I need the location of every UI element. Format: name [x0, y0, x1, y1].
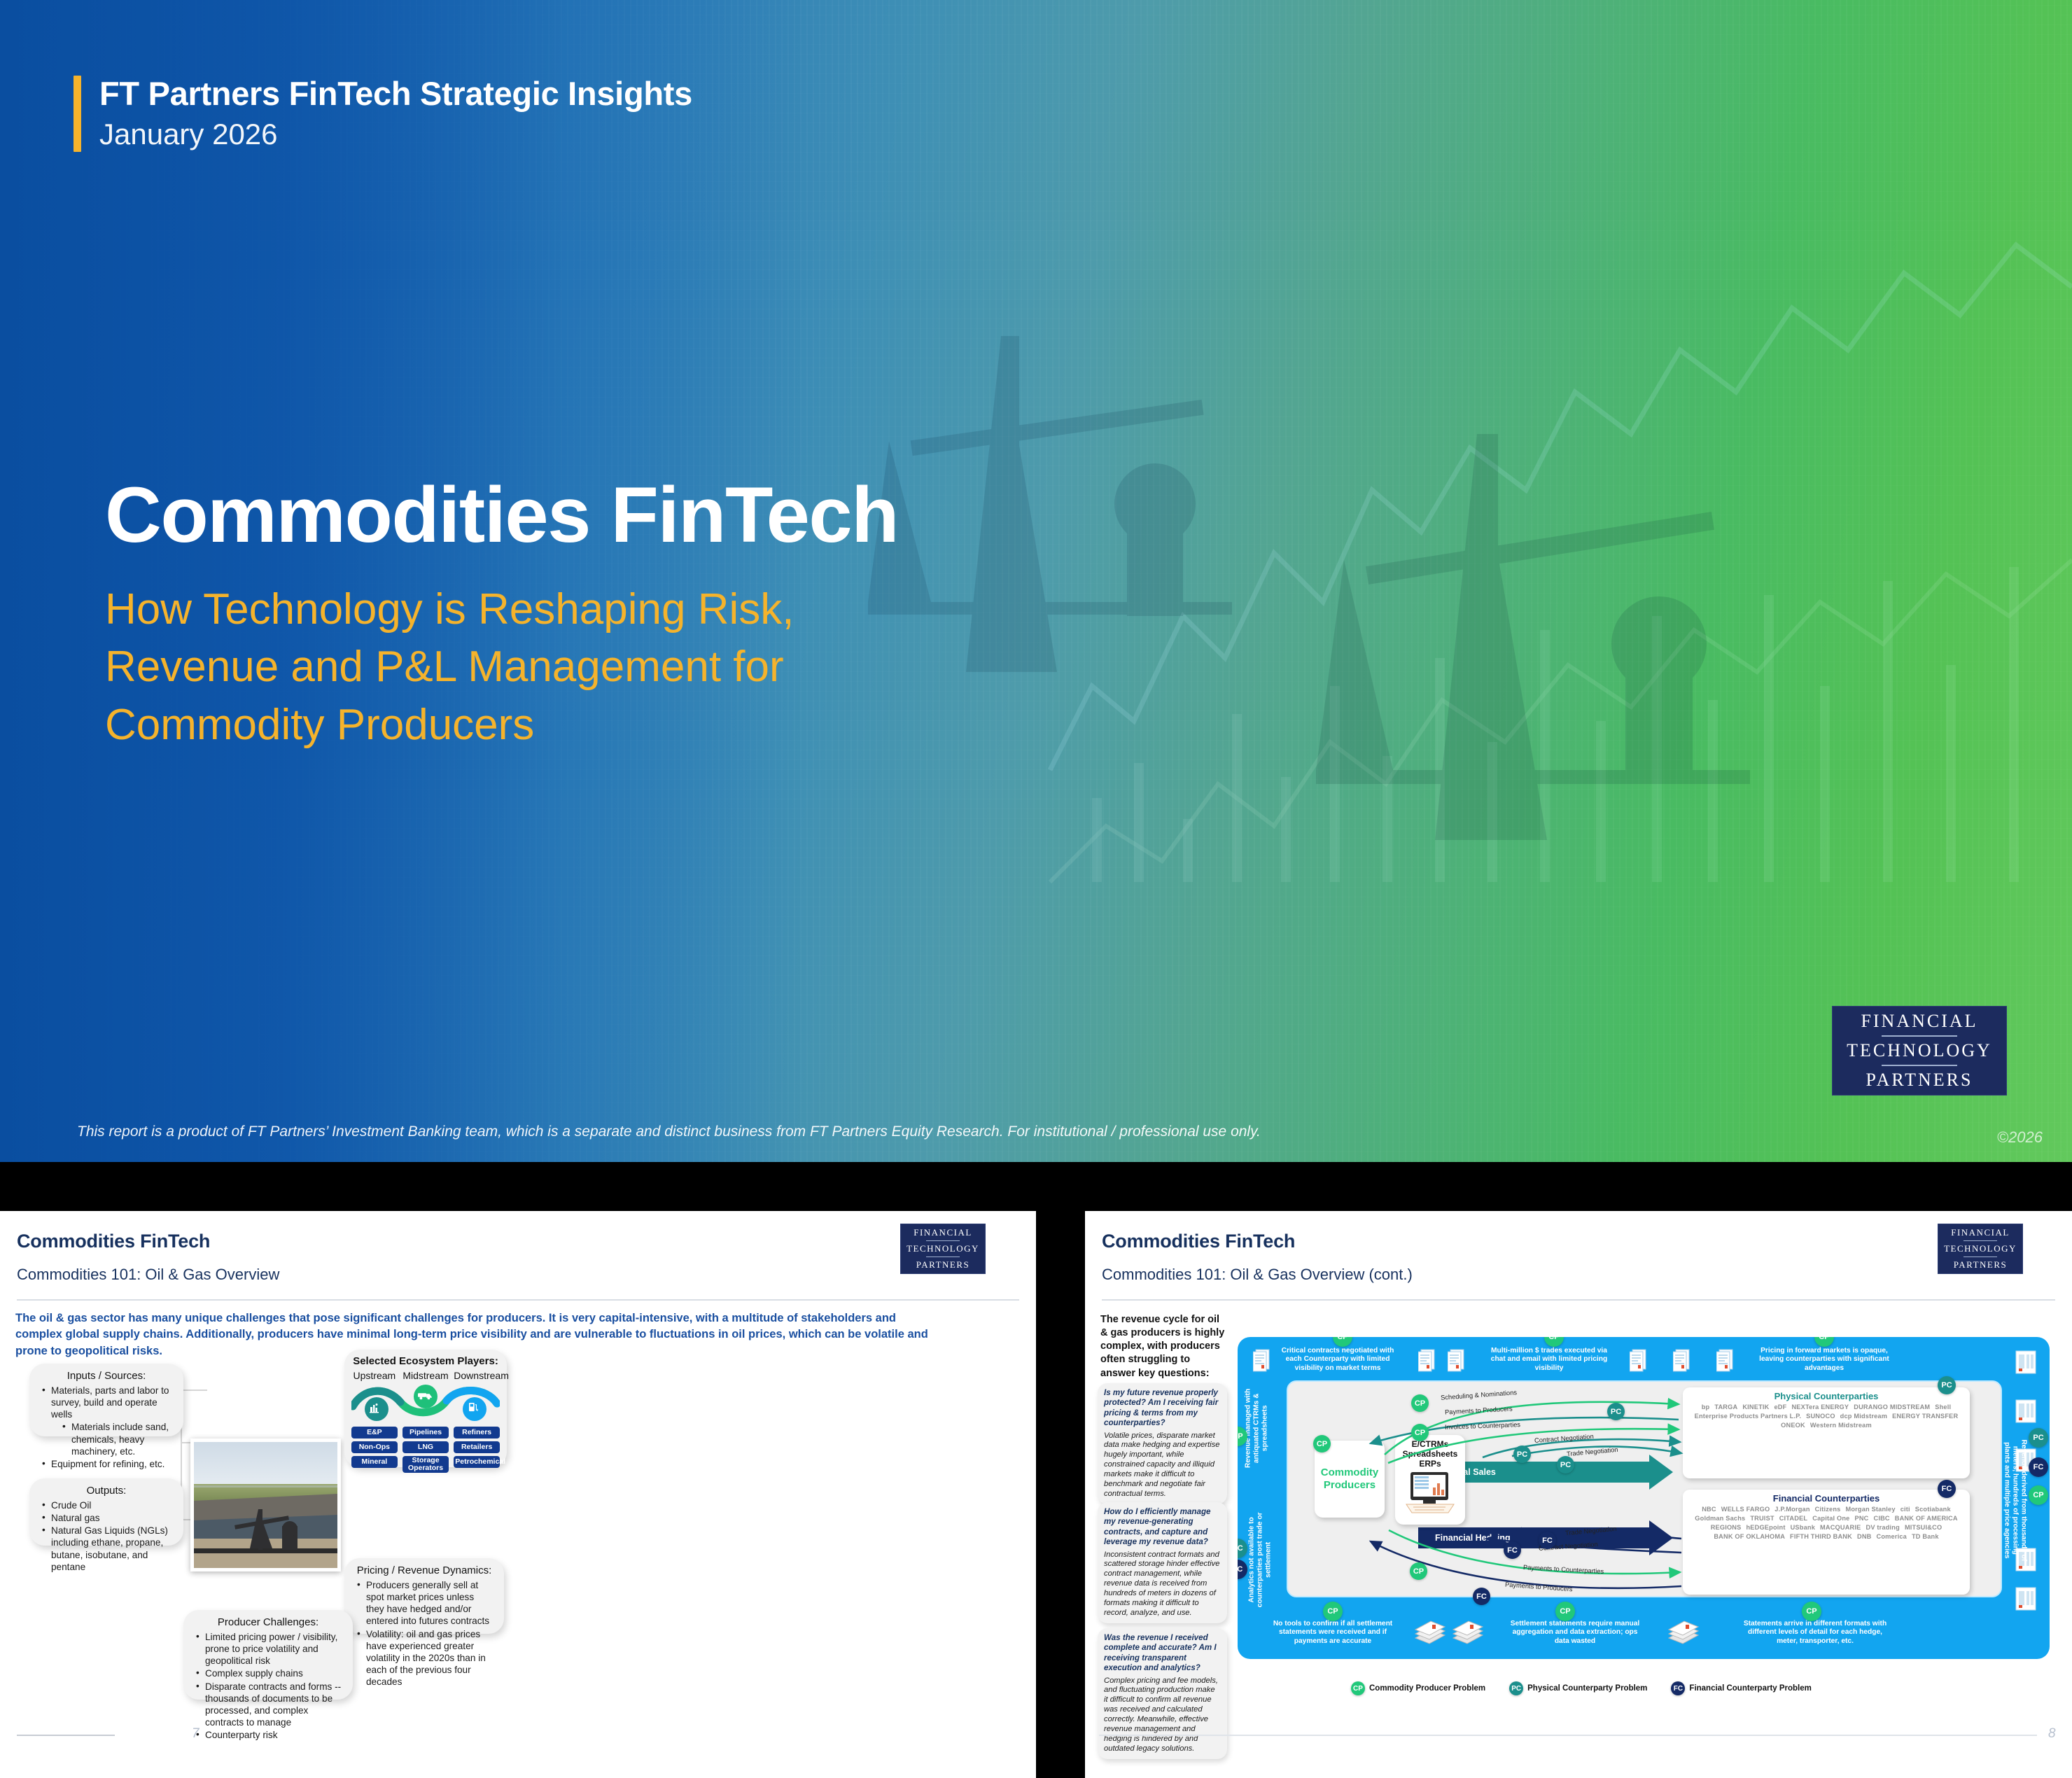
card-pricing-heading-colon: :	[489, 1564, 491, 1576]
card-inputs-sources: Inputs / Sources: Materials, parts and l…	[29, 1364, 183, 1436]
card-outputs-heading-colon: :	[123, 1485, 126, 1497]
card-pricing-heading-text: Pricing / Revenue Dynamics	[357, 1564, 489, 1576]
badge-pc-flow-3: PC	[1557, 1456, 1574, 1473]
list-item: Natural Gas Liquids (NGLs) including eth…	[39, 1525, 174, 1573]
badge-cp-bottom-1: CP	[1323, 1602, 1343, 1621]
legend-item-fc: FC Financial Counterparty Problem	[1671, 1681, 1811, 1695]
question-text: Is my future revenue properly protected?…	[1104, 1388, 1221, 1429]
list-item: Natural gas	[39, 1512, 174, 1524]
badge-fc-flow-3: FC	[1473, 1588, 1490, 1605]
pill: Non-Ops	[351, 1441, 398, 1453]
cover-subhead-line-3: Commodity Producers	[105, 696, 898, 754]
diagram-legend: CP Commodity Producer Problem PC Physica…	[1351, 1681, 1812, 1695]
card-challenges-heading-text: Producer Challenges	[218, 1616, 316, 1628]
slide-left-page-number: 7	[192, 1726, 199, 1742]
slide-left-title: Commodities FinTech	[17, 1231, 210, 1252]
ecosystem-heading-colon: :	[495, 1355, 498, 1367]
pill: Retailers	[454, 1441, 500, 1453]
ecosystem-columns: Upstream Midstream Downstream	[351, 1370, 500, 1381]
badge-cp-right: CP	[2029, 1485, 2048, 1505]
ecosystem-heading: Selected Ecosystem Players:	[351, 1355, 500, 1367]
ecosystem-pill-columns: E&P Non-Ops Mineral Pipelines LNG Storag…	[351, 1424, 500, 1476]
list-item: Equipment for refining, etc.	[39, 1458, 174, 1470]
badge-cp-legend: CP	[1351, 1681, 1365, 1695]
card-producer-challenges: Producer Challenges: Limited pricing pow…	[183, 1610, 353, 1700]
card-pricing-heading: Pricing / Revenue Dynamics:	[354, 1564, 494, 1576]
badge-pc-legend: PC	[1509, 1681, 1523, 1695]
card-inputs-list: Materials, parts and labor to survey, bu…	[39, 1385, 174, 1470]
question-card-2: How do I efficiently manage my revenue-g…	[1098, 1502, 1227, 1623]
ecosystem-column-label: Downstream	[454, 1370, 500, 1381]
badge-cp-flow-2: CP	[1411, 1424, 1429, 1441]
ftp-logo-line-financial: FINANCIAL	[913, 1227, 972, 1238]
slide-right-footer-rule	[1099, 1735, 2037, 1736]
slide-right-page-number: 8	[2048, 1726, 2056, 1742]
ecosystem-column-label: Midstream	[402, 1370, 449, 1381]
legend-label: Physical Counterparty Problem	[1527, 1684, 1647, 1693]
badge-fc-legend: FC	[1671, 1681, 1685, 1695]
ftp-logo-rule-2	[926, 1256, 960, 1257]
slide-right-divider	[1102, 1299, 2055, 1301]
cover-copyright: ©2026	[1997, 1128, 2043, 1147]
diagram-bottom-caption-2: Settlement statements require manual agg…	[1506, 1620, 1644, 1646]
question-text: Was the revenue I received complete and …	[1104, 1633, 1221, 1674]
list-item: Complex supply chains	[193, 1667, 343, 1679]
list-item: Producers generally sell at spot market …	[354, 1579, 494, 1627]
badge-pc-right: PC	[2029, 1428, 2048, 1448]
badge-cp-flow-3: CP	[1410, 1562, 1427, 1580]
cover-subhead-line-2: Revenue and P&L Management for	[105, 638, 898, 696]
cover-headline-block: Commodities FinTech How Technology is Re…	[105, 476, 898, 754]
badge-pc-flow-2: PC	[1513, 1445, 1531, 1463]
ecosystem-pills-downstream: Refiners Retailers Petrochemical	[454, 1427, 500, 1476]
card-challenges-heading: Producer Challenges:	[193, 1616, 343, 1628]
ecosystem-column-upstream: Upstream	[351, 1370, 398, 1381]
card-outputs-heading-text: Outputs	[87, 1485, 124, 1497]
card-outputs-list: Crude Oil Natural gas Natural Gas Liquid…	[39, 1499, 174, 1573]
report-series-title: FT Partners FinTech Strategic Insights	[99, 76, 692, 113]
ecosystem-column-label: Upstream	[351, 1370, 398, 1381]
answer-text: Inconsistent contract formats and scatte…	[1104, 1550, 1221, 1618]
pill: Pipelines	[402, 1427, 449, 1438]
badge-pc-physbox: PC	[1938, 1376, 1956, 1394]
list-item: Materials include sand, chemicals, heavy…	[39, 1421, 174, 1457]
answer-text: Complex pricing and fee models, and fluc…	[1104, 1676, 1221, 1754]
legend-label: Commodity Producer Problem	[1369, 1684, 1485, 1693]
connector-line	[181, 1389, 207, 1391]
ftp-logo-rule-1	[1882, 1035, 1957, 1037]
list-item: Volatility: oil and gas prices have expe…	[354, 1628, 494, 1688]
ftp-logo-line-technology: TECHNOLOGY	[906, 1243, 979, 1254]
ftp-logo-rule-2	[1963, 1256, 1997, 1257]
cover-subhead: How Technology is Reshaping Risk, Revenu…	[105, 581, 898, 754]
card-pricing-list: Producers generally sell at spot market …	[354, 1579, 494, 1688]
pill: E&P	[351, 1427, 398, 1438]
slide-left-subtitle: Commodities 101: Oil & Gas Overview	[17, 1266, 279, 1284]
question-text: How do I efficiently manage my revenue-g…	[1104, 1507, 1221, 1548]
oil-well-photo	[190, 1438, 341, 1571]
pill: Storage Operators	[402, 1456, 449, 1473]
legend-label: Financial Counterparty Problem	[1689, 1684, 1811, 1693]
ftp-logo-line-technology: TECHNOLOGY	[1944, 1243, 2017, 1254]
card-outputs: Outputs: Crude Oil Natural gas Natural G…	[29, 1478, 183, 1546]
cover-eyebrow: FT Partners FinTech Strategic Insights J…	[73, 76, 692, 152]
slide-right-subtitle: Commodities 101: Oil & Gas Overview (con…	[1102, 1266, 1413, 1284]
badge-cp-bottom-2: CP	[1555, 1602, 1575, 1621]
badge-fc-flow-1: FC	[1504, 1541, 1521, 1559]
card-inputs-heading: Inputs / Sources:	[39, 1370, 174, 1382]
ftp-logo-line-partners: PARTNERS	[1866, 1070, 1973, 1091]
badge-fc-right: FC	[2029, 1457, 2048, 1477]
card-challenges-list: Limited pricing power / visibility, pron…	[193, 1631, 343, 1741]
slide-right-title: Commodities FinTech	[1102, 1231, 1295, 1252]
slide-left-divider	[17, 1299, 1019, 1301]
ftp-logo: FINANCIAL TECHNOLOGY PARTNERS	[1832, 1006, 2007, 1095]
ftp-logo-rule-1	[926, 1240, 960, 1241]
pill: LNG	[402, 1441, 449, 1453]
ftp-logo-line-partners: PARTNERS	[916, 1259, 970, 1270]
answer-text: Volatile prices, disparate market data m…	[1104, 1431, 1221, 1499]
cover-headline: Commodities FinTech	[105, 476, 898, 554]
report-date: January 2026	[99, 117, 692, 152]
pill: Refiners	[454, 1427, 500, 1438]
slide-gutter	[1036, 1211, 1085, 1778]
question-card-3: Was the revenue I received complete and …	[1098, 1628, 1227, 1759]
cover-slide: FT Partners FinTech Strategic Insights J…	[0, 0, 2072, 1162]
oil-pumpjack-silhouette-2	[1267, 294, 1799, 854]
list-item: Materials, parts and labor to survey, bu…	[39, 1385, 174, 1420]
card-ecosystem-players: Selected Ecosystem Players: Upstream Mid…	[344, 1350, 507, 1467]
slide-right-lead-paragraph: The revenue cycle for oil & gas producer…	[1100, 1313, 1226, 1380]
slide-left-footer-rule	[17, 1735, 115, 1736]
diagram-bottom-caption-1: No tools to confirm if all settlement st…	[1263, 1620, 1403, 1646]
diagram-bottom-caption-3: Statements arrive in different formats w…	[1743, 1620, 1887, 1646]
stacked-documents-icon	[1414, 1620, 1446, 1645]
diagram-flow-arrows	[1238, 1337, 2050, 1659]
ftp-logo-slide-left: FINANCIAL TECHNOLOGY PARTNERS	[900, 1224, 986, 1274]
ecosystem-column-midstream: Midstream	[402, 1370, 449, 1381]
ftp-logo-rule-1	[1963, 1240, 1997, 1241]
legend-item-pc: PC Physical Counterparty Problem	[1509, 1681, 1647, 1695]
ftp-logo-line-financial: FINANCIAL	[1951, 1227, 2010, 1238]
card-inputs-heading-colon: :	[143, 1370, 146, 1382]
badge-pc-flow-1: PC	[1607, 1403, 1625, 1420]
ecosystem-pills-midstream: Pipelines LNG Storage Operators	[402, 1427, 449, 1476]
list-item: Crude Oil	[39, 1499, 174, 1511]
badge-fc-finbox: FC	[1938, 1480, 1956, 1498]
accent-bar	[73, 76, 81, 152]
badge-cp-producers: CP	[1313, 1435, 1331, 1452]
ecosystem-pills-upstream: E&P Non-Ops Mineral	[351, 1427, 398, 1476]
badge-cp-bottom-3: CP	[1802, 1602, 1821, 1621]
legend-item-cp: CP Commodity Producer Problem	[1351, 1681, 1485, 1695]
list-item: Counterparty risk	[193, 1729, 343, 1741]
ecosystem-column-downstream: Downstream	[454, 1370, 500, 1381]
list-item: Disparate contracts and forms -- thousan…	[193, 1681, 343, 1729]
pill: Mineral	[351, 1456, 398, 1468]
slide-oil-gas-overview-cont: Commodities FinTech Commodities 101: Oil…	[1085, 1211, 2072, 1778]
badge-cp-flow-1: CP	[1411, 1394, 1429, 1412]
badge-fc-flow-2: FC	[1539, 1532, 1556, 1549]
pill: Petrochemical	[454, 1456, 500, 1468]
slide-oil-gas-overview: Commodities FinTech Commodities 101: Oil…	[0, 1211, 1036, 1778]
card-challenges-heading-colon: :	[316, 1616, 318, 1628]
ftp-logo-rule-2	[1882, 1065, 1957, 1066]
cover-disclaimer: This report is a product of FT Partners’…	[77, 1123, 1261, 1140]
ftp-logo-slide-right: FINANCIAL TECHNOLOGY PARTNERS	[1938, 1224, 2023, 1274]
ecosystem-heading-text: Selected Ecosystem Players	[353, 1355, 495, 1367]
question-card-1: Is my future revenue properly protected?…	[1098, 1383, 1227, 1504]
value-chain-wave-graphic	[351, 1382, 500, 1422]
ftp-logo-line-technology: TECHNOLOGY	[1847, 1040, 1992, 1061]
card-pricing-revenue-dynamics: Pricing / Revenue Dynamics: Producers ge…	[344, 1558, 504, 1634]
revenue-cycle-diagram: Critical contracts negotiated with each …	[1238, 1337, 2050, 1659]
ftp-logo-line-financial: FINANCIAL	[1861, 1011, 1977, 1032]
card-outputs-heading: Outputs:	[39, 1485, 174, 1497]
stacked-documents-icon	[1667, 1620, 1700, 1645]
cover-subhead-line-1: How Technology is Reshaping Risk,	[105, 581, 898, 638]
list-item: Limited pricing power / visibility, pron…	[193, 1631, 343, 1667]
card-inputs-heading-text: Inputs / Sources	[67, 1370, 143, 1382]
stacked-documents-icon	[1452, 1620, 1484, 1645]
ftp-logo-line-partners: PARTNERS	[1954, 1259, 2008, 1270]
